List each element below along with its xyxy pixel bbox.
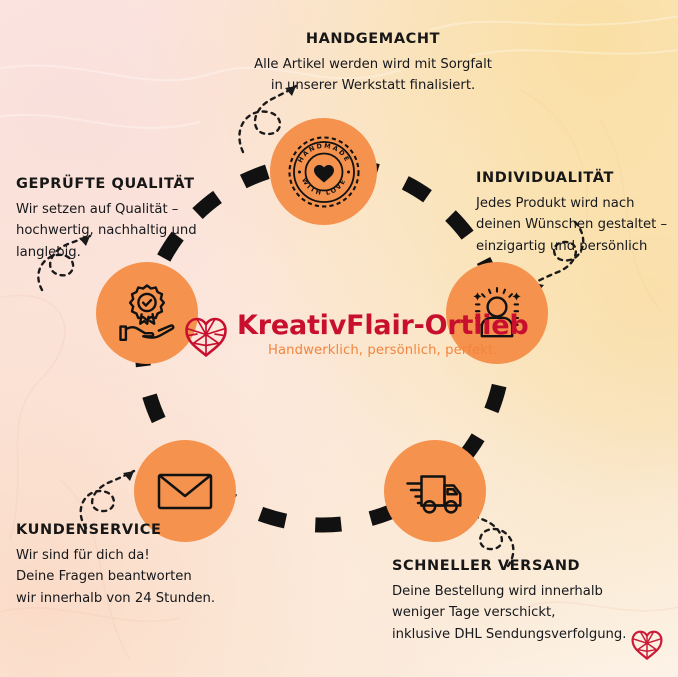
corner-watermark (630, 629, 664, 665)
delivery-truck-icon (399, 458, 471, 524)
handmade-with-love-stamp-icon: HANDMADE WITH LOVE (287, 135, 361, 209)
section-body-handgemacht: Alle Artikel werden wird mit Sorgfalt in… (213, 54, 533, 97)
geometric-heart-icon (630, 629, 664, 661)
section-text-individualitaet: INDIVIDUALITÄT Jedes Produkt wird nach d… (476, 170, 676, 257)
section-text-kundenservice: KUNDENSERVICE Wir sind für dich da! Dein… (16, 522, 246, 609)
brand-tagline: Handwerklich, persönlich, perfekt. (237, 343, 529, 358)
hand-holding-quality-badge-icon (112, 278, 182, 348)
section-body-individualitaet: Jedes Produkt wird nach deinen Wünschen … (476, 193, 676, 257)
section-body-schneller-versand: Deine Bestellung wird innerhalb weniger … (392, 581, 660, 645)
section-title-gepruefte-qualitaet: GEPRÜFTE QUALITÄT (16, 176, 231, 192)
section-text-schneller-versand: SCHNELLER VERSAND Deine Bestellung wird … (392, 558, 660, 645)
node-schneller-versand[interactable] (384, 440, 486, 542)
brand-name: KreativFlair-Ortlieb (237, 312, 529, 340)
infographic-canvas: HANDMADE WITH LOVE HANDGEMACHT Alle Arti… (0, 0, 678, 677)
section-text-gepruefte-qualitaet: GEPRÜFTE QUALITÄT Wir setzen auf Qualitä… (16, 176, 231, 263)
envelope-icon (152, 458, 218, 524)
node-handgemacht[interactable]: HANDMADE WITH LOVE (270, 118, 377, 225)
section-body-gepruefte-qualitaet: Wir setzen auf Qualität – hochwertig, na… (16, 199, 231, 263)
brand-logo[interactable]: KreativFlair-Ortlieb Handwerklich, persö… (183, 312, 453, 374)
section-title-kundenservice: KUNDENSERVICE (16, 522, 246, 538)
section-title-individualitaet: INDIVIDUALITÄT (476, 170, 676, 186)
section-title-schneller-versand: SCHNELLER VERSAND (392, 558, 660, 574)
section-text-handgemacht: HANDGEMACHT Alle Artikel werden wird mit… (213, 31, 533, 97)
section-body-kundenservice: Wir sind für dich da! Deine Fragen beant… (16, 545, 246, 609)
geometric-heart-icon (183, 316, 229, 362)
section-title-handgemacht: HANDGEMACHT (213, 31, 533, 47)
